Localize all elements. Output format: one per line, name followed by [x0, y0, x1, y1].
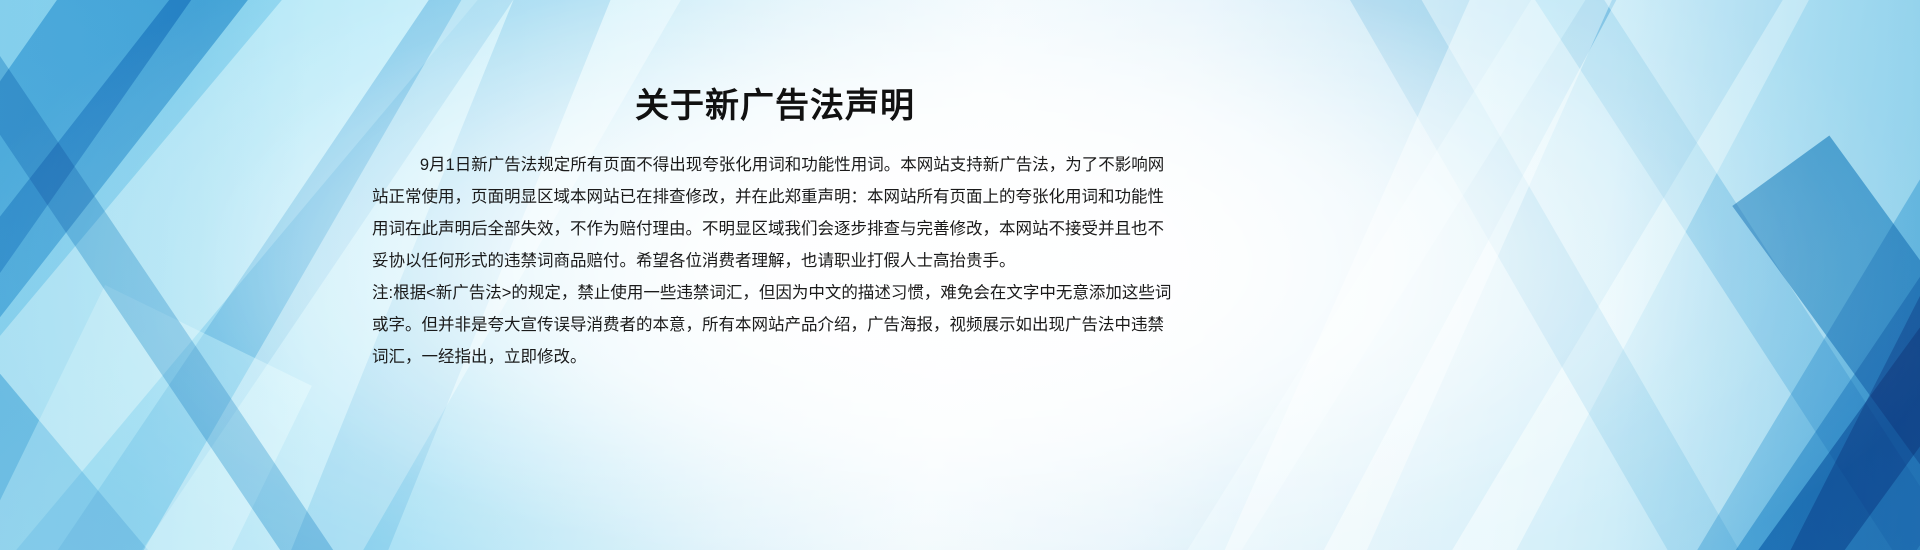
shard-right-6 — [1256, 0, 1913, 550]
statement-paragraph-note: 注:根据<新广告法>的规定，禁止使用一些违禁词汇，但因为中文的描述习惯，难免会在… — [372, 277, 1178, 373]
shard-right-10 — [1842, 0, 1920, 550]
shard-right-1 — [1649, 0, 1920, 550]
shard-right-9 — [1154, 0, 1696, 550]
shard-right-5 — [1480, 0, 1920, 550]
shard-left-6 — [0, 257, 430, 550]
shard-left-4 — [0, 193, 111, 550]
shard-left-2 — [0, 0, 353, 550]
shard-right-4 — [1732, 135, 1920, 550]
shard-left-1 — [0, 0, 238, 550]
shard-right-7 — [1302, 0, 1816, 550]
shard-right-11 — [1098, 0, 1656, 550]
shard-right-2 — [1603, 0, 1920, 550]
shard-left-9 — [0, 285, 312, 550]
page-title: 关于新广告法声明 — [372, 0, 1178, 127]
statement-paragraph-main: 9月1日新广告法规定所有页面不得出现夸张化用词和功能性用词。本网站支持新广告法，… — [372, 149, 1178, 277]
statement-content: 关于新广告法声明 9月1日新广告法规定所有页面不得出现夸张化用词和功能性用词。本… — [372, 0, 1178, 550]
statement-body: 9月1日新广告法规定所有页面不得出现夸张化用词和功能性用词。本网站支持新广告法，… — [372, 149, 1178, 373]
shard-left-5 — [0, 147, 181, 550]
shard-right-3 — [1382, 0, 1920, 550]
advertising-law-statement-banner: 关于新广告法声明 9月1日新广告法规定所有页面不得出现夸张化用词和功能性用词。本… — [0, 0, 1920, 550]
shard-right-8 — [1601, 245, 1920, 550]
